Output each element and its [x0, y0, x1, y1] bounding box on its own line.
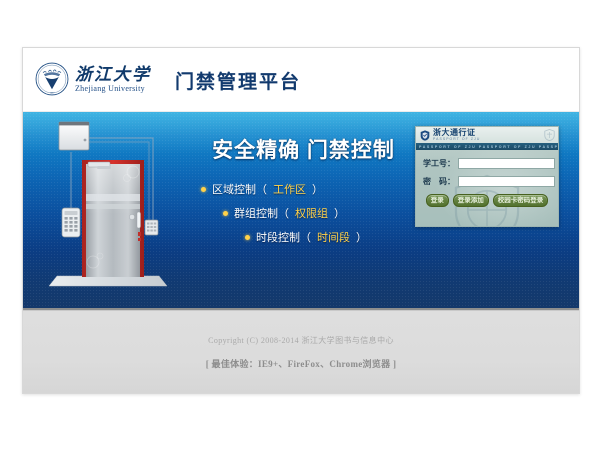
passport-brand-en: PASSPORT OF ZJU — [433, 138, 480, 141]
page-title: 门禁管理平台 — [175, 67, 301, 94]
username-field-row: 学工号： — [423, 158, 551, 169]
login-panel-stripe: PASSPORT OF ZJU PASSPORT OF ZJU PASSPORT… — [416, 143, 558, 150]
hero-banner: 安全精确 门禁控制 区域控制（工作区） 群组控制（权限组） 时段控制（时间段） — [23, 112, 579, 310]
browser-support-text: [ 最佳体验：IE9+、FireFox、Chrome浏览器 ] — [206, 357, 397, 370]
hero-headline: 安全精确 门禁控制 — [191, 134, 416, 164]
hero-feature-tail: ） — [312, 181, 323, 197]
hero-feature-highlight: 权限组 — [295, 205, 328, 221]
password-field-row: 密 码： — [423, 176, 551, 187]
bullet-dot-icon — [201, 187, 206, 192]
hero-feature-text: 群组控制（ — [234, 205, 289, 221]
hero-feature-item: 区域控制（工作区） — [191, 181, 416, 197]
university-logo[interactable]: 1897 浙江大学 Zhejiang University — [35, 62, 151, 96]
site-header: 1897 浙江大学 Zhejiang University 门禁管理平台 — [23, 48, 579, 112]
shield-watermark-icon — [544, 129, 555, 141]
bullet-dot-icon — [223, 211, 228, 216]
login-panel-header: 浙大通行证 PASSPORT OF ZJU — [416, 127, 558, 143]
login-add-button[interactable]: 登录添加 — [453, 194, 489, 207]
screen-root: 1897 浙江大学 Zhejiang University 门禁管理平台 — [0, 0, 600, 450]
passport-shield-icon — [420, 130, 430, 141]
login-button-row: 登录 登录添加 校园卡密码登录 — [423, 194, 551, 207]
access-control-door-illustration — [41, 116, 186, 302]
username-label: 学工号： — [423, 158, 458, 169]
site-footer: Copyright (C) 2008-2014 浙江大学图书与信息中心 [ 最佳… — [23, 310, 579, 393]
password-label: 密 码： — [423, 176, 458, 187]
bullet-dot-icon — [245, 235, 250, 240]
zju-seal-icon: 1897 — [35, 62, 69, 96]
hero-feature-tail: ） — [356, 229, 367, 245]
copyright-text: Copyright (C) 2008-2014 浙江大学图书与信息中心 — [208, 335, 394, 346]
svg-text:1897: 1897 — [50, 91, 56, 94]
login-button[interactable]: 登录 — [426, 194, 449, 207]
hero-feature-highlight: 时间段 — [317, 229, 350, 245]
campus-card-login-button[interactable]: 校园卡密码登录 — [493, 194, 549, 207]
logo-text-cn: 浙江大学 — [75, 66, 151, 83]
hero-feature-list: 区域控制（工作区） 群组控制（权限组） 时段控制（时间段） — [191, 181, 416, 245]
hero-copy: 安全精确 门禁控制 区域控制（工作区） 群组控制（权限组） 时段控制（时间段） — [191, 134, 416, 245]
page-frame: 1897 浙江大学 Zhejiang University 门禁管理平台 — [22, 47, 580, 394]
login-panel: 浙大通行证 PASSPORT OF ZJU PASSPORT OF ZJU PA… — [415, 126, 559, 227]
username-input[interactable] — [458, 158, 555, 169]
hero-feature-text: 区域控制（ — [212, 181, 267, 197]
login-stripe-text: PASSPORT OF ZJU PASSPORT OF ZJU PASSPORT… — [416, 145, 558, 149]
hero-feature-item: 群组控制（权限组） — [191, 205, 416, 221]
hero-feature-item: 时段控制（时间段） — [191, 229, 416, 245]
password-input[interactable] — [458, 176, 555, 187]
hero-feature-highlight: 工作区 — [273, 181, 306, 197]
login-form: 学工号： 密 码： 登录 登录添加 校园卡密码登录 — [416, 150, 558, 207]
hero-feature-text: 时段控制（ — [256, 229, 311, 245]
logo-text-en: Zhejiang University — [75, 85, 151, 93]
hero-feature-tail: ） — [334, 205, 345, 221]
passport-brand-cn: 浙大通行证 — [433, 129, 480, 137]
